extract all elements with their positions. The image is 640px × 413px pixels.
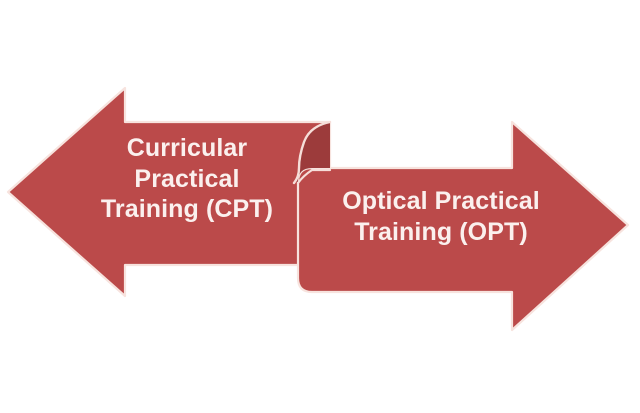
left-arrow-shape[interactable]	[8, 88, 330, 296]
right-arrow-shape[interactable]	[298, 122, 628, 330]
two-way-arrow-diagram	[0, 0, 640, 413]
diagram-canvas: Curricular Practical Training (CPT) Opti…	[0, 0, 640, 413]
